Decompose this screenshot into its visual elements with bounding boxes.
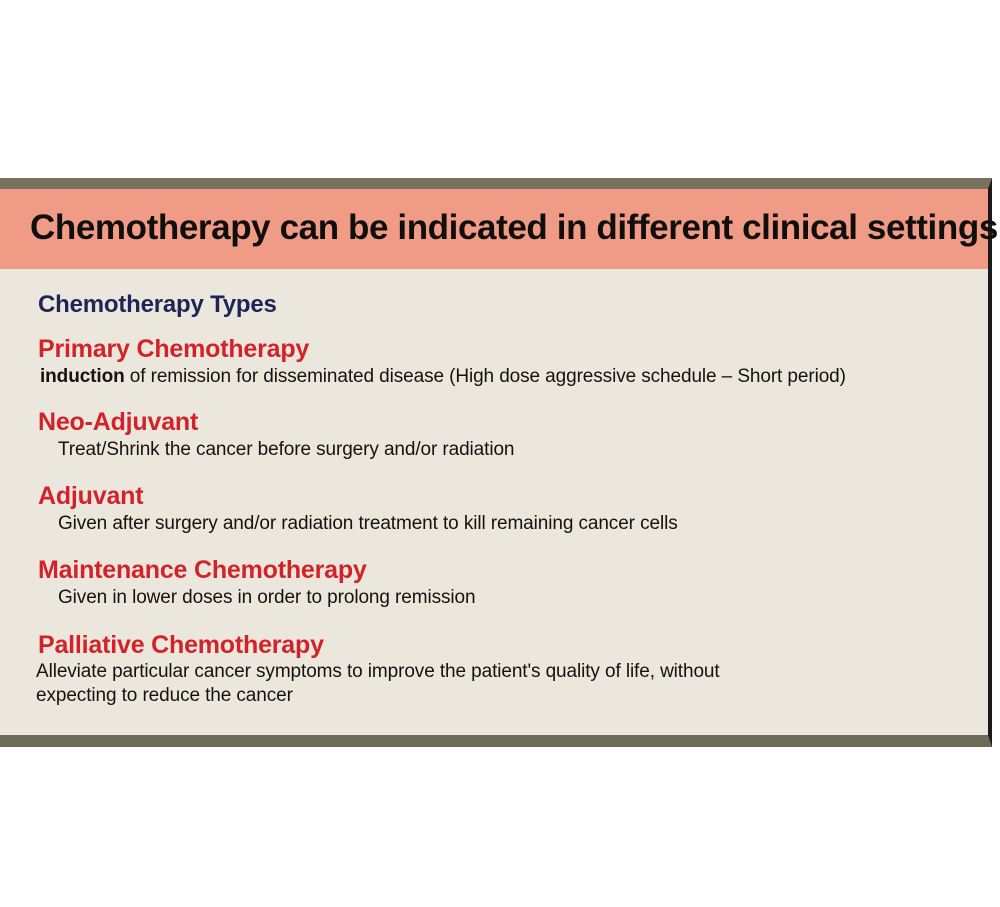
- section-desc-emphasis-induction: induction: [40, 366, 125, 387]
- section-title-palliative-chemotherapy: Palliative Chemotherapy: [38, 631, 988, 660]
- section-desc-primary-rest: of remission for disseminated disease (H…: [125, 366, 846, 387]
- section-title-maintenance-chemotherapy: Maintenance Chemotherapy: [38, 556, 988, 585]
- slide-header-band: Chemotherapy can be indicated in differe…: [0, 189, 988, 269]
- section-title-primary-chemotherapy: Primary Chemotherapy: [38, 335, 988, 364]
- section-neo-adjuvant: Neo-Adjuvant Treat/Shrink the cancer bef…: [36, 408, 988, 461]
- section-desc-maintenance-chemotherapy: Given in lower doses in order to prolong…: [58, 586, 988, 609]
- section-adjuvant: Adjuvant Given after surgery and/or radi…: [36, 482, 988, 535]
- chemotherapy-types-heading: Chemotherapy Types: [38, 291, 988, 319]
- slide-card: Chemotherapy can be indicated in differe…: [0, 178, 992, 747]
- section-title-adjuvant: Adjuvant: [38, 482, 988, 511]
- section-desc-primary-chemotherapy: induction of remission for disseminated …: [40, 365, 988, 388]
- slide-body: Chemotherapy Types Primary Chemotherapy …: [0, 269, 988, 707]
- section-palliative-chemotherapy: Palliative Chemotherapy Alleviate partic…: [36, 631, 988, 707]
- section-title-neo-adjuvant: Neo-Adjuvant: [38, 408, 988, 437]
- section-desc-adjuvant: Given after surgery and/or radiation tre…: [58, 512, 988, 535]
- section-primary-chemotherapy: Primary Chemotherapy induction of remiss…: [36, 335, 988, 388]
- section-desc-neo-adjuvant: Treat/Shrink the cancer before surgery a…: [58, 438, 988, 461]
- slide-title: Chemotherapy can be indicated in differe…: [30, 210, 1000, 245]
- section-desc-palliative-chemotherapy: Alleviate particular cancer symptoms to …: [36, 660, 726, 706]
- section-maintenance-chemotherapy: Maintenance Chemotherapy Given in lower …: [36, 556, 988, 609]
